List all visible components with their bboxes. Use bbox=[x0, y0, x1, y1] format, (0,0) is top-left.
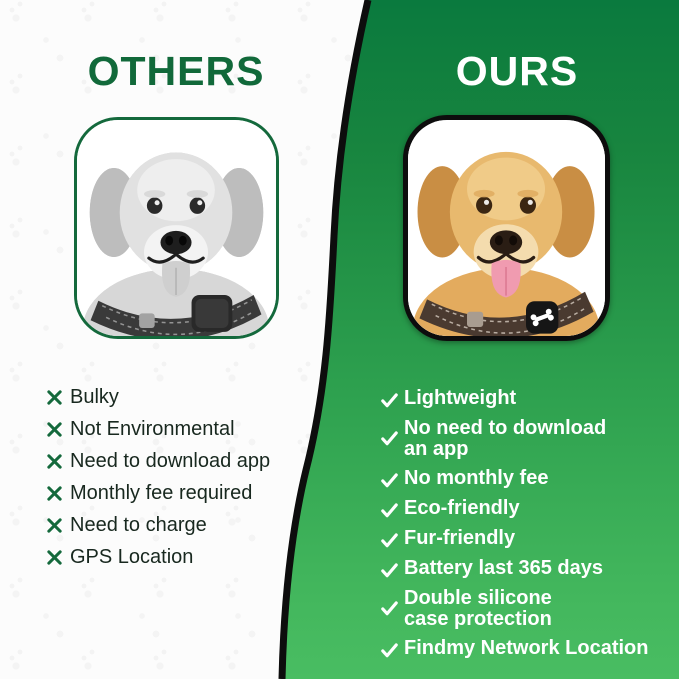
dog-photo-grayscale bbox=[77, 120, 276, 336]
page-title-ours: OURS bbox=[372, 48, 662, 95]
page-title-others: OTHERS bbox=[0, 48, 352, 95]
list-item-label: Bulky bbox=[70, 386, 316, 408]
check-icon bbox=[380, 468, 404, 490]
list-item: GPS Location bbox=[46, 546, 316, 568]
check-icon bbox=[380, 498, 404, 520]
list-item-label: Battery last 365 days bbox=[404, 558, 670, 579]
others-feature-list: Bulky Not Environmental Need to download… bbox=[46, 386, 316, 578]
check-icon bbox=[380, 528, 404, 550]
x-icon bbox=[46, 418, 70, 438]
check-icon bbox=[380, 418, 404, 448]
list-item: Lightweight bbox=[380, 388, 670, 410]
dog-photo-color bbox=[408, 120, 605, 336]
list-item: Battery last 365 days bbox=[380, 558, 670, 580]
list-item-label: Double silicone case protection bbox=[404, 588, 670, 630]
list-item-label: Monthly fee required bbox=[70, 482, 316, 504]
list-item: Fur-friendly bbox=[380, 528, 670, 550]
list-item-label: GPS Location bbox=[70, 546, 316, 568]
list-item-label: No need to download an app bbox=[404, 418, 670, 460]
list-item-label: Fur-friendly bbox=[404, 528, 670, 549]
list-item-label: No monthly fee bbox=[404, 468, 670, 489]
ours-feature-list: Lightweight No need to download an app N… bbox=[380, 388, 670, 668]
list-item-label: Findmy Network Location bbox=[404, 638, 670, 659]
list-item: Not Environmental bbox=[46, 418, 316, 440]
list-item: Need to charge bbox=[46, 514, 316, 536]
list-item: No need to download an app bbox=[380, 418, 670, 460]
x-icon bbox=[46, 546, 70, 566]
check-icon bbox=[380, 388, 404, 410]
others-product-image bbox=[74, 117, 279, 339]
comparison-infographic: OTHERS OURS bbox=[0, 0, 679, 679]
check-icon bbox=[380, 558, 404, 580]
x-icon bbox=[46, 482, 70, 502]
list-item: Findmy Network Location bbox=[380, 638, 670, 660]
list-item: Double silicone case protection bbox=[380, 588, 670, 630]
list-item-label: Lightweight bbox=[404, 388, 670, 409]
list-item-label: Need to download app bbox=[70, 450, 316, 472]
list-item: Monthly fee required bbox=[46, 482, 316, 504]
list-item: Eco-friendly bbox=[380, 498, 670, 520]
list-item: Bulky bbox=[46, 386, 316, 408]
list-item: No monthly fee bbox=[380, 468, 670, 490]
ours-product-image bbox=[403, 115, 610, 341]
list-item-label: Need to charge bbox=[70, 514, 316, 536]
x-icon bbox=[46, 514, 70, 534]
check-icon bbox=[380, 638, 404, 660]
list-item-label: Not Environmental bbox=[70, 418, 316, 440]
list-item-label: Eco-friendly bbox=[404, 498, 670, 519]
x-icon bbox=[46, 450, 70, 470]
list-item: Need to download app bbox=[46, 450, 316, 472]
x-icon bbox=[46, 386, 70, 406]
check-icon bbox=[380, 588, 404, 618]
